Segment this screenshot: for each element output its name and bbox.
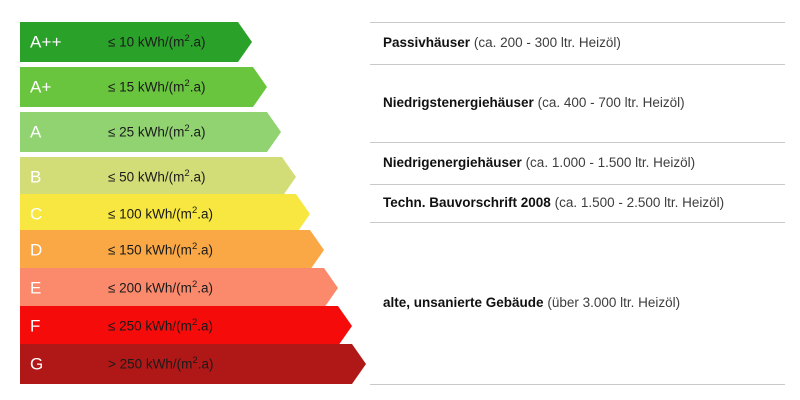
bar-value-tail: .a) xyxy=(190,34,206,49)
bar-value-exponent: 2 xyxy=(184,123,189,134)
legend-category-detail: (über 3.000 ltr. Heizöl) xyxy=(547,295,680,310)
legend-category-detail: (ca. 1.000 - 1.500 ltr. Heizöl) xyxy=(526,155,696,170)
bar-value-tail: .a) xyxy=(190,124,206,139)
bar-grade-label: C xyxy=(30,206,42,223)
legend-row: alte, unsanierte Gebäude (über 3.000 ltr… xyxy=(370,222,785,384)
bar-grade-label: G xyxy=(30,356,43,373)
bar-value-exponent: 2 xyxy=(184,78,189,89)
bar-value-tail: .a) xyxy=(197,206,213,221)
bar-value-label: ≤ 15 kWh/(m2.a) xyxy=(108,80,205,94)
legend-column: Passivhäuser (ca. 200 - 300 ltr. Heizöl)… xyxy=(370,0,800,400)
energy-bar-e: E≤ 200 kWh/(m2.a) xyxy=(20,268,338,308)
legend-category-detail: (ca. 200 - 300 ltr. Heizöl) xyxy=(474,35,621,50)
bar-value-tail: .a) xyxy=(190,169,206,184)
bar-value-head: ≤ 15 kWh/(m xyxy=(108,79,184,94)
legend-category-name: Passivhäuser xyxy=(383,35,470,50)
legend-text: Passivhäuser (ca. 200 - 300 ltr. Heizöl) xyxy=(370,35,621,52)
energy-bar-g: G> 250 kWh/(m2.a) xyxy=(20,344,366,384)
energy-bar-aplus: A+≤ 15 kWh/(m2.a) xyxy=(20,67,267,107)
energy-bar-c: C≤ 100 kWh/(m2.a) xyxy=(20,194,310,234)
bar-value-tail: .a) xyxy=(197,318,213,333)
energy-bar-d: D≤ 150 kWh/(m2.a) xyxy=(20,230,324,270)
legend-text: Niedrigstenergiehäuser (ca. 400 - 700 lt… xyxy=(370,95,685,112)
bar-value-exponent: 2 xyxy=(184,33,189,44)
legend-category-name: Niedrigstenergiehäuser xyxy=(383,95,534,110)
bar-value-label: ≤ 100 kWh/(m2.a) xyxy=(108,207,213,221)
legend-category-name: alte, unsanierte Gebäude xyxy=(383,295,544,310)
bar-value-tail: .a) xyxy=(190,79,206,94)
bar-value-head: ≤ 250 kWh/(m xyxy=(108,318,192,333)
bar-grade-label: A++ xyxy=(30,34,62,51)
bar-value-head: ≤ 50 kWh/(m xyxy=(108,169,184,184)
energy-efficiency-chart: A++≤ 10 kWh/(m2.a)A+≤ 15 kWh/(m2.a)A≤ 25… xyxy=(0,0,800,400)
bar-value-exponent: 2 xyxy=(192,317,197,328)
bar-grade-label: B xyxy=(30,169,42,186)
legend-row: Niedrigstenergiehäuser (ca. 400 - 700 lt… xyxy=(370,64,785,142)
legend-category-detail: (ca. 400 - 700 ltr. Heizöl) xyxy=(538,95,685,110)
bar-value-exponent: 2 xyxy=(184,168,189,179)
bar-value-exponent: 2 xyxy=(192,355,197,366)
legend-separator-rule xyxy=(370,22,785,23)
bar-value-head: > 250 kWh/(m xyxy=(108,356,192,371)
bar-value-head: ≤ 200 kWh/(m xyxy=(108,280,192,295)
legend-separator-rule xyxy=(370,142,785,143)
bar-value-head: ≤ 10 kWh/(m xyxy=(108,34,184,49)
bar-grade-label: A xyxy=(30,124,42,141)
energy-bar-f: F≤ 250 kWh/(m2.a) xyxy=(20,306,352,346)
bar-grade-label: A+ xyxy=(30,79,52,96)
legend-separator-rule xyxy=(370,184,785,185)
legend-separator-rule xyxy=(370,222,785,223)
bar-grade-label: E xyxy=(30,280,42,297)
legend-category-detail: (ca. 1.500 - 2.500 ltr. Heizöl) xyxy=(555,195,725,210)
legend-separator-rule xyxy=(370,64,785,65)
bar-value-head: ≤ 150 kWh/(m xyxy=(108,242,192,257)
legend-row: Niedrigenergiehäuser (ca. 1.000 - 1.500 … xyxy=(370,142,785,184)
energy-bars-column: A++≤ 10 kWh/(m2.a)A+≤ 15 kWh/(m2.a)A≤ 25… xyxy=(0,0,370,400)
legend-category-name: Niedrigenergiehäuser xyxy=(383,155,522,170)
legend-separator-rule xyxy=(370,384,785,385)
bar-value-head: ≤ 25 kWh/(m xyxy=(108,124,184,139)
energy-bar-aplusplus: A++≤ 10 kWh/(m2.a) xyxy=(20,22,252,62)
legend-text: alte, unsanierte Gebäude (über 3.000 ltr… xyxy=(370,295,680,312)
bar-value-head: ≤ 100 kWh/(m xyxy=(108,206,192,221)
bar-grade-label: D xyxy=(30,242,42,259)
bar-value-label: > 250 kWh/(m2.a) xyxy=(108,357,213,371)
bar-grade-label: F xyxy=(30,318,41,335)
bar-value-tail: .a) xyxy=(197,242,213,257)
legend-text: Niedrigenergiehäuser (ca. 1.000 - 1.500 … xyxy=(370,155,695,172)
legend-row: Techn. Bauvorschrift 2008 (ca. 1.500 - 2… xyxy=(370,184,785,222)
bar-value-exponent: 2 xyxy=(192,205,197,216)
bar-value-label: ≤ 150 kWh/(m2.a) xyxy=(108,243,213,257)
legend-category-name: Techn. Bauvorschrift 2008 xyxy=(383,195,551,210)
energy-bar-a: A≤ 25 kWh/(m2.a) xyxy=(20,112,281,152)
bar-value-label: ≤ 25 kWh/(m2.a) xyxy=(108,125,205,139)
bar-value-exponent: 2 xyxy=(192,279,197,290)
legend-row: Passivhäuser (ca. 200 - 300 ltr. Heizöl) xyxy=(370,22,785,64)
energy-bar-b: B≤ 50 kWh/(m2.a) xyxy=(20,157,296,197)
bar-value-label: ≤ 200 kWh/(m2.a) xyxy=(108,281,213,295)
bar-value-label: ≤ 250 kWh/(m2.a) xyxy=(108,319,213,333)
bar-value-label: ≤ 50 kWh/(m2.a) xyxy=(108,170,205,184)
bar-value-label: ≤ 10 kWh/(m2.a) xyxy=(108,35,205,49)
bar-value-tail: .a) xyxy=(197,280,213,295)
bar-value-exponent: 2 xyxy=(192,241,197,252)
legend-text: Techn. Bauvorschrift 2008 (ca. 1.500 - 2… xyxy=(370,195,724,212)
bar-value-tail: .a) xyxy=(198,356,214,371)
